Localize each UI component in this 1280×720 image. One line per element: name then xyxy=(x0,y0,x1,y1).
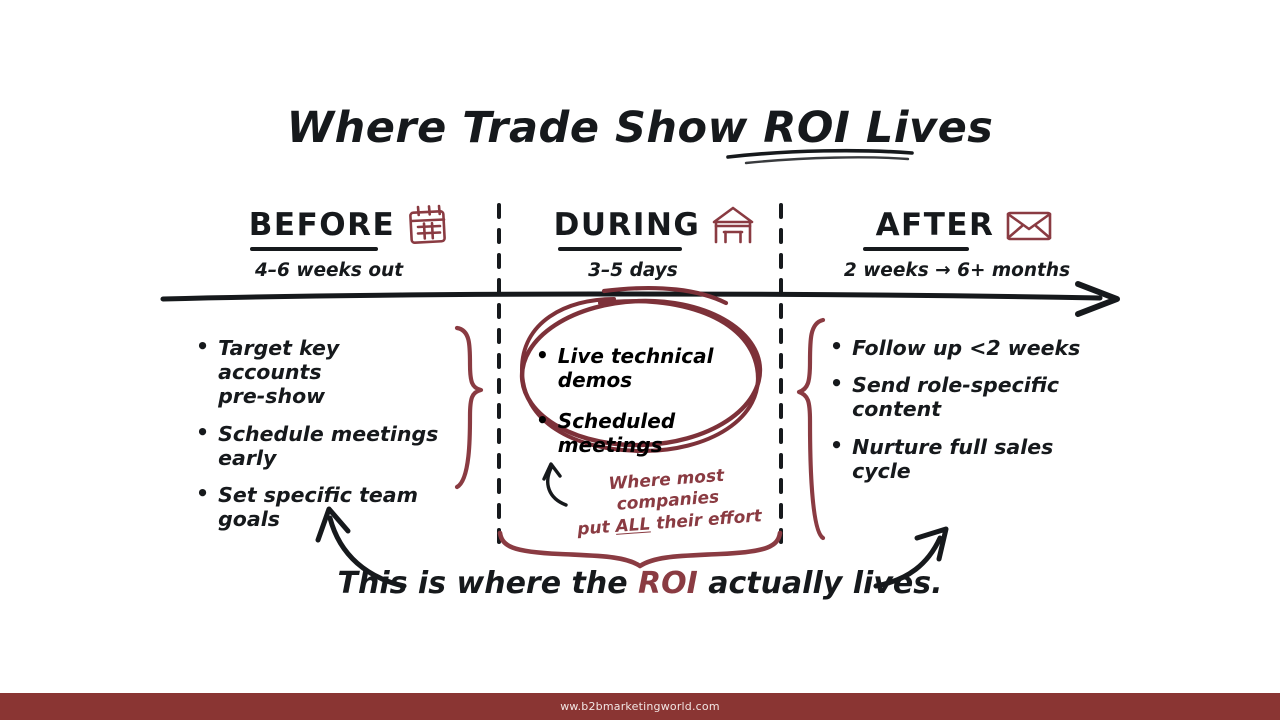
bullet-dot: • xyxy=(536,345,549,366)
list-item: • Follow up <2 weeks xyxy=(830,336,1110,360)
bullet-list-during: • Live technical demos • Scheduled meeti… xyxy=(536,345,766,475)
list-item: • Send role-specific content xyxy=(830,373,1110,421)
column-subtitle-after: 2 weeks → 6+ months xyxy=(829,260,1085,281)
column-label-after: AFTER xyxy=(876,207,995,243)
bullet-dot: • xyxy=(830,435,843,457)
column-header-after: AFTER 2 weeks → 6+ months xyxy=(845,205,1085,281)
bullet-dot: • xyxy=(196,483,209,505)
infographic-canvas: Where Trade Show ROI Lives xyxy=(0,0,1280,720)
bottom-brace xyxy=(500,533,780,566)
bullet-list-after: • Follow up <2 weeks • Send role-specifi… xyxy=(830,336,1110,496)
caption-part-2: actually lives. xyxy=(698,566,943,601)
bullet-text: Nurture full sales cycle xyxy=(852,435,1110,483)
calendar-icon xyxy=(405,204,451,246)
list-item: • Live technical demos xyxy=(536,345,766,392)
bullet-text: Live technical demos xyxy=(558,345,766,392)
column-label-during: DURING xyxy=(554,207,701,243)
list-item: • Schedule meetings early xyxy=(196,422,446,470)
bullet-text: Follow up <2 weeks xyxy=(852,336,1080,360)
list-item: • Set specific team goals xyxy=(196,483,446,531)
bullet-dot: • xyxy=(196,336,209,358)
footer-url: ww.b2bmarketingworld.com xyxy=(560,700,720,713)
timeline-axis-arrow xyxy=(163,284,1117,314)
column-label-before: BEFORE xyxy=(249,207,395,243)
column-underline-after xyxy=(863,247,969,251)
during-annotation: Where most companies put ALL their effor… xyxy=(566,463,770,541)
annotation-line-2-prefix: put xyxy=(577,516,617,539)
bullet-text: Target key accounts pre-show xyxy=(218,336,446,409)
annotation-emphasis: ALL xyxy=(615,514,651,536)
list-item: • Nurture full sales cycle xyxy=(830,435,1110,483)
page-title: Where Trade Show ROI Lives xyxy=(0,103,1280,153)
caption-part-1: This is where the xyxy=(338,566,638,601)
bullet-dot: • xyxy=(830,336,843,358)
bullet-dot: • xyxy=(830,373,843,395)
column-subtitle-before: 4–6 weeks out xyxy=(173,260,485,281)
before-brace xyxy=(457,328,481,487)
column-header-before: BEFORE 4–6 week xyxy=(215,205,485,281)
column-subtitle-during: 3–5 days xyxy=(496,260,770,281)
booth-tent-icon xyxy=(710,204,756,246)
after-brace xyxy=(799,320,823,538)
bullet-text: Set specific team goals xyxy=(218,483,446,531)
footer-bar: ww.b2bmarketingworld.com xyxy=(0,693,1280,720)
list-item: • Scheduled meetings xyxy=(536,410,766,457)
bottom-caption: This is where the ROI actually lives. xyxy=(0,566,1280,601)
bullet-list-before: • Target key accounts pre-show • Schedul… xyxy=(196,336,446,544)
caption-roi-highlight: ROI xyxy=(638,566,698,601)
column-underline-during xyxy=(558,247,682,251)
bullet-dot: • xyxy=(196,422,209,444)
envelope-icon xyxy=(1004,206,1054,244)
bullet-text: Send role-specific content xyxy=(852,373,1110,421)
bullet-dot: • xyxy=(536,410,549,431)
list-item: • Target key accounts pre-show xyxy=(196,336,446,409)
column-underline-before xyxy=(250,247,378,251)
bullet-text: Schedule meetings early xyxy=(218,422,446,470)
column-header-during: DURING 3–5 days xyxy=(540,205,770,281)
bullet-text: Scheduled meetings xyxy=(558,410,766,457)
